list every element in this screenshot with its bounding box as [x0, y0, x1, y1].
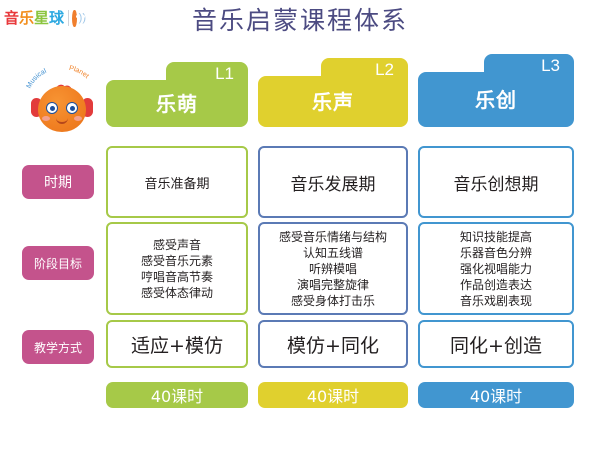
level-name-l1: 乐萌 — [156, 92, 198, 116]
level-code-l3: L3 — [541, 56, 560, 76]
mascot-eye-left-icon — [46, 102, 58, 114]
goal-line: 感受音乐情绪与结构 — [279, 229, 387, 245]
row-label-stage-goals: 阶段目标 — [22, 246, 94, 280]
mascot-cheek-left-icon — [42, 116, 50, 121]
hours-bar-l3: 40课时 — [418, 382, 574, 408]
hours-bar-l2: 40课时 — [258, 382, 408, 408]
row-label-teaching-method: 教学方式 — [22, 330, 94, 364]
cell-method-l3: 同化+创造 — [418, 320, 574, 368]
goal-line: 强化视唱能力 — [460, 261, 532, 277]
goal-line: 感受身体打击乐 — [279, 293, 387, 309]
cell-goals-l1: 感受声音感受音乐元素哼唱音高节奏感受体态律动 — [106, 222, 248, 315]
goal-line: 知识技能提高 — [460, 229, 532, 245]
goal-line: 作品创造表达 — [460, 277, 532, 293]
goal-line: 听辨模唱 — [279, 261, 387, 277]
page-title: 音乐启蒙课程体系 — [0, 6, 600, 36]
level-card-l3[interactable]: 乐创 L3 — [418, 54, 574, 127]
goal-list-l1: 感受声音感受音乐元素哼唱音高节奏感受体态律动 — [139, 233, 215, 305]
cell-goals-l3: 知识技能提高乐器音色分辨强化视唱能力作品创造表达音乐戏剧表现 — [418, 222, 574, 315]
cell-period-l2: 音乐发展期 — [258, 146, 408, 218]
level-card-l2[interactable]: 乐声 L2 — [258, 58, 408, 127]
goal-line: 感受体态律动 — [141, 285, 213, 301]
mascot-eye-right-icon — [66, 102, 78, 114]
cell-method-l1: 适应+模仿 — [106, 320, 248, 368]
goal-list-l2: 感受音乐情绪与结构认知五线谱听辨模唱演唱完整旋律感受身体打击乐 — [277, 225, 389, 313]
goal-list-l3: 知识技能提高乐器音色分辨强化视唱能力作品创造表达音乐戏剧表现 — [458, 225, 534, 313]
mascot-cheek-right-icon — [74, 116, 82, 121]
goal-line: 哼唱音高节奏 — [141, 269, 213, 285]
infographic-root: 音 乐 星 球 )) 音乐启蒙课程体系 Musical Planet — [0, 0, 600, 449]
level-name-l2: 乐声 — [312, 90, 354, 114]
level-code-l1: L1 — [215, 64, 234, 84]
cell-method-l2: 模仿+同化 — [258, 320, 408, 368]
cell-period-l3: 音乐创想期 — [418, 146, 574, 218]
goal-line: 感受声音 — [141, 237, 213, 253]
cell-period-l1: 音乐准备期 — [106, 146, 248, 218]
svg-text:Musical: Musical — [26, 68, 48, 90]
cell-goals-l2: 感受音乐情绪与结构认知五线谱听辨模唱演唱完整旋律感受身体打击乐 — [258, 222, 408, 315]
level-card-l1[interactable]: 乐萌 L1 — [106, 62, 248, 127]
goal-line: 感受音乐元素 — [141, 253, 213, 269]
goal-line: 音乐戏剧表现 — [460, 293, 532, 309]
goal-line: 认知五线谱 — [279, 245, 387, 261]
goal-line: 乐器音色分辨 — [460, 245, 532, 261]
level-body-l3: 乐创 — [418, 72, 574, 127]
row-label-period: 时期 — [22, 165, 94, 199]
level-body-l1: 乐萌 — [106, 80, 248, 127]
level-name-l3: 乐创 — [475, 88, 517, 112]
mascot-badge: Musical Planet — [22, 62, 102, 142]
level-code-l2: L2 — [375, 60, 394, 80]
svg-text:Planet: Planet — [68, 65, 90, 80]
goal-line: 演唱完整旋律 — [279, 277, 387, 293]
level-body-l2: 乐声 — [258, 76, 408, 127]
hours-bar-l1: 40课时 — [106, 382, 248, 408]
